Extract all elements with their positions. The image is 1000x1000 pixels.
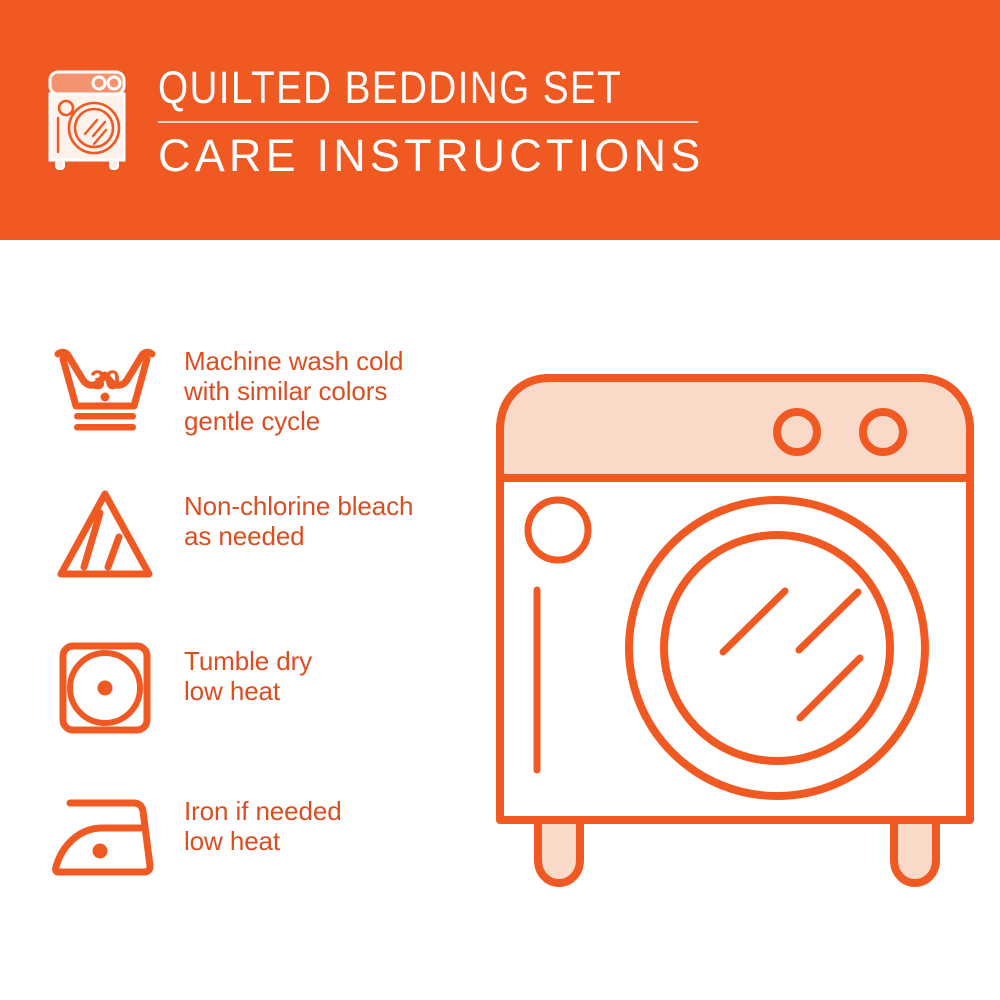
care-line: Tumble dry	[184, 646, 312, 676]
wash-temperature-label: 30	[90, 365, 120, 395]
care-line: Iron if needed	[184, 796, 342, 826]
care-icon-slot	[40, 485, 170, 583]
care-line: Non-chlorine bleach	[184, 491, 413, 521]
front-load-washing-machine-illustration	[490, 330, 980, 940]
care-icon-slot	[40, 640, 170, 736]
wash-tub-30-gentle-icon: 30	[50, 340, 160, 436]
care-row-iron: Iron if needed low heat	[40, 790, 490, 878]
care-instructions-list: 30 Machine wash cold with similar colors…	[0, 240, 490, 1000]
door-inner-ring[interactable]	[664, 535, 890, 761]
header-title-block: QUILTED BEDDING SET CARE INSTRUCTIONS	[158, 62, 704, 181]
care-line: low heat	[184, 826, 342, 856]
page-subtitle: CARE INSTRUCTIONS	[158, 131, 704, 181]
care-line: as needed	[184, 521, 413, 551]
knob-right[interactable]	[863, 412, 903, 452]
care-row-machine-wash: 30 Machine wash cold with similar colors…	[40, 340, 490, 436]
care-row-tumble-dry: Tumble dry low heat	[40, 640, 490, 736]
care-icon-slot: 30	[40, 340, 170, 436]
care-row-bleach: Non-chlorine bleach as needed	[40, 485, 490, 583]
care-line: gentle cycle	[184, 406, 403, 436]
tumble-dry-low-heat-icon	[57, 640, 153, 736]
title-divider	[158, 121, 698, 123]
header-banner: QUILTED BEDDING SET CARE INSTRUCTIONS	[0, 0, 1000, 240]
leg-left	[538, 820, 580, 883]
wash-dot	[101, 393, 110, 402]
care-line: with similar colors	[184, 376, 403, 406]
knob-left[interactable]	[777, 412, 817, 452]
care-text-machine-wash: Machine wash cold with similar colors ge…	[184, 340, 403, 436]
care-text-iron: Iron if needed low heat	[184, 790, 342, 856]
non-chlorine-bleach-triangle-icon	[53, 485, 157, 583]
care-line: Machine wash cold	[184, 346, 403, 376]
detergent-dispenser-circle[interactable]	[528, 500, 588, 560]
dry-heat-dot	[98, 681, 113, 696]
page-title: QUILTED BEDDING SET	[158, 64, 628, 112]
care-icon-slot	[40, 790, 170, 878]
care-text-tumble-dry: Tumble dry low heat	[184, 640, 312, 706]
iron-low-heat-icon	[50, 790, 160, 878]
care-line: low heat	[184, 676, 312, 706]
iron-heat-dot	[93, 844, 108, 859]
header-content: QUILTED BEDDING SET CARE INSTRUCTIONS	[44, 62, 704, 181]
care-text-bleach: Non-chlorine bleach as needed	[184, 485, 413, 551]
leg-right	[894, 820, 936, 883]
washing-machine-icon	[44, 66, 136, 174]
